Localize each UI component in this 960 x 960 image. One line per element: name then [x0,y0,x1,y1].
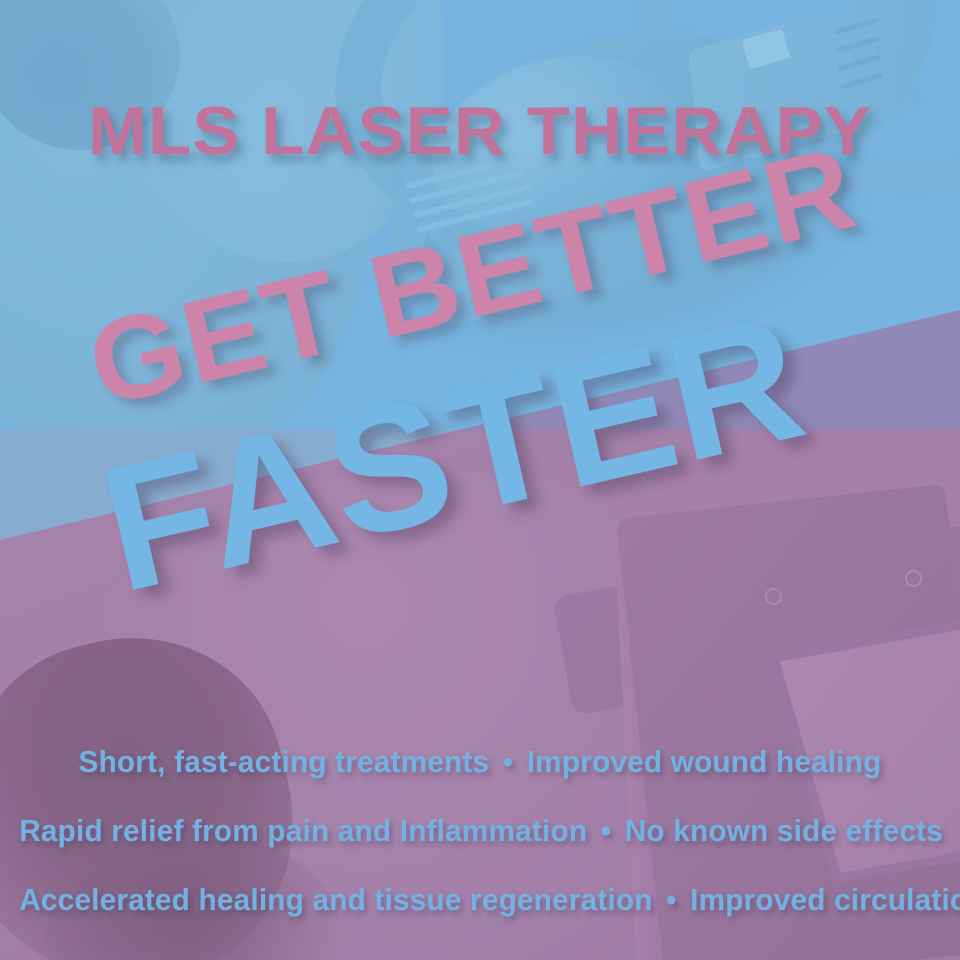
mls-laser-therapy-poster: MLS LASER THERAPY GET BETTER FASTER Shor… [0,0,960,960]
benefit-left-text: Short, fast-acting treatments [79,744,490,779]
benefit-right-text: Improved circulation [690,882,960,917]
benefit-left-text: Accelerated healing and tissue regenerat… [19,882,652,917]
benefit-right-text: Improved wound healing [527,744,882,779]
benefit-row: Short, fast-acting treatments•Improved w… [19,744,941,780]
benefit-separator: • [653,882,691,918]
benefit-separator: • [587,813,625,849]
benefit-right-text: No known side effects [625,813,943,848]
benefits-list: Short, fast-acting treatments•Improved w… [0,744,960,918]
benefit-separator: • [489,744,526,780]
benefit-row: Accelerated healing and tissue regenerat… [19,882,941,918]
benefit-left-text: Rapid relief from pain and Inflammation [19,813,587,848]
benefit-row: Rapid relief from pain and Inflammation•… [19,813,941,849]
